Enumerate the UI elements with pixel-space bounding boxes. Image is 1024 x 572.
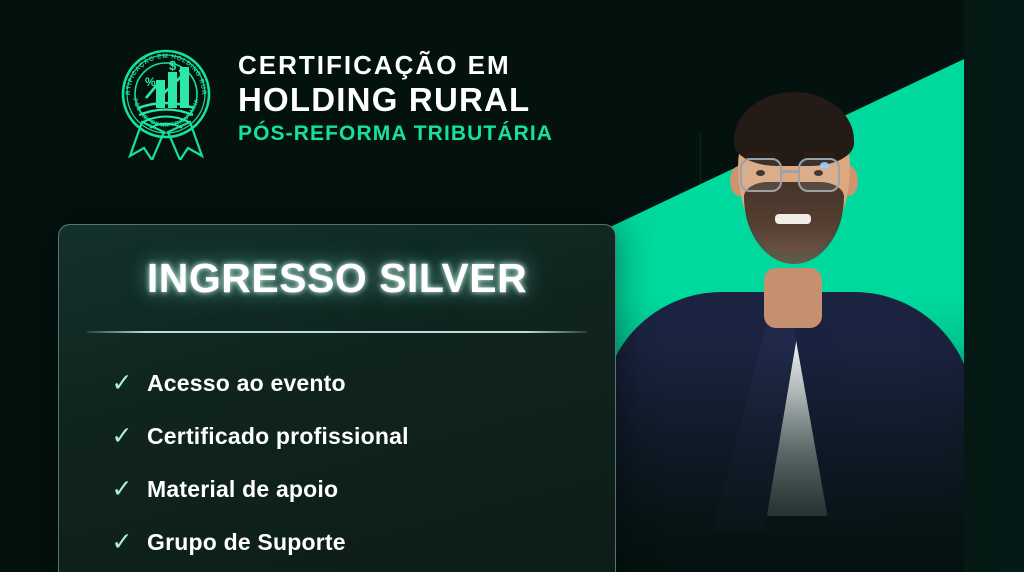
brand-line-1: CERTIFICAÇÃO EM — [238, 52, 553, 78]
promo-banner: CERTIFICAÇÃO EM HOLDING RURAL PÓS-REFORM… — [0, 0, 1024, 572]
certification-seal-icon: CERTIFICAÇÃO EM HOLDING RURAL PÓS-REFORM… — [112, 36, 220, 160]
benefits-list: ✓ Acesso ao evento ✓ Certificado profiss… — [59, 357, 615, 569]
brand-lockup: CERTIFICAÇÃO EM HOLDING RURAL PÓS-REFORM… — [112, 36, 553, 160]
speaker-portrait — [612, 24, 964, 572]
card-divider — [87, 331, 587, 333]
ticket-card: INGRESSO SILVER ✓ Acesso ao evento ✓ Cer… — [58, 224, 616, 572]
check-icon: ✓ — [111, 424, 133, 449]
photo-fade-overlay — [612, 24, 964, 572]
list-item: ✓ Grupo de Suporte — [111, 516, 615, 569]
benefit-label: Material de apoio — [147, 476, 338, 503]
list-item: ✓ Acesso ao evento — [111, 357, 615, 410]
ticket-title: INGRESSO SILVER — [59, 255, 615, 302]
benefit-label: Acesso ao evento — [147, 370, 346, 397]
check-icon: ✓ — [111, 530, 133, 555]
benefit-label: Certificado profissional — [147, 423, 409, 450]
list-item: ✓ Material de apoio — [111, 463, 615, 516]
dark-right-band-inner — [1000, 0, 1024, 572]
check-icon: ✓ — [111, 477, 133, 502]
svg-text:$: $ — [169, 58, 177, 73]
brand-line-3: PÓS-REFORMA TRIBUTÁRIA — [238, 123, 553, 144]
check-icon: ✓ — [111, 371, 133, 396]
svg-text:%: % — [145, 75, 156, 89]
brand-text-block: CERTIFICAÇÃO EM HOLDING RURAL PÓS-REFORM… — [238, 52, 553, 144]
benefit-label: Grupo de Suporte — [147, 529, 346, 556]
brand-line-2: HOLDING RURAL — [238, 83, 553, 116]
list-item: ✓ Certificado profissional — [111, 410, 615, 463]
